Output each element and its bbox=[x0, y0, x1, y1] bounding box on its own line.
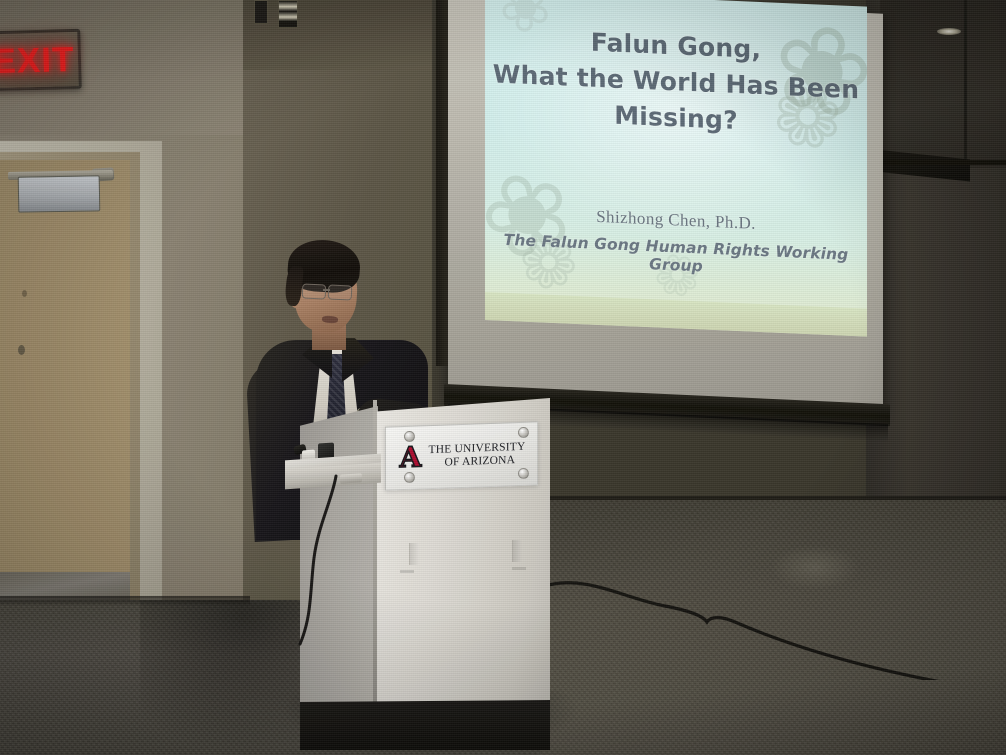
podium-seam bbox=[512, 567, 526, 570]
podium-seam bbox=[512, 540, 522, 562]
plaque-standoff-icon bbox=[404, 472, 415, 483]
door-knob-icon[interactable] bbox=[18, 345, 25, 355]
glasses-bridge bbox=[323, 289, 330, 291]
wall-control-panel[interactable] bbox=[278, 0, 298, 28]
slide-title: Falun Gong, What the World Has Been Miss… bbox=[485, 20, 867, 145]
slide-organization: The Falun Gong Human Rights Working Grou… bbox=[485, 230, 867, 283]
ceiling-light-icon bbox=[937, 28, 961, 35]
glasses-icon bbox=[328, 284, 353, 300]
shelf-connector[interactable] bbox=[340, 473, 362, 484]
plaque-standoff-icon bbox=[518, 427, 529, 438]
wall-corner-line bbox=[964, 0, 967, 172]
ceiling-edge-line bbox=[880, 160, 1006, 165]
projected-slide: ❀ ❀ ❁ ❀ ❁ ❁ Falun Gong, What the World H… bbox=[485, 0, 867, 337]
wall-right-upper bbox=[880, 0, 1006, 168]
wall-switch-plate[interactable] bbox=[254, 0, 268, 24]
floor-light-glow bbox=[770, 545, 860, 590]
podium-seam bbox=[409, 543, 419, 565]
glasses-icon bbox=[302, 283, 327, 299]
arizona-block-a-icon: A bbox=[397, 442, 423, 473]
exit-sign-label: EXIT bbox=[0, 42, 75, 79]
door-blemish bbox=[22, 290, 27, 297]
exit-sign: EXIT bbox=[0, 29, 82, 91]
door[interactable] bbox=[0, 160, 130, 600]
presentation-photo-scene: EXIT ❀ ❀ ❁ ❀ ❁ ❁ Falun Gong, What the Wo… bbox=[0, 0, 1006, 755]
plaque-standoff-icon bbox=[518, 468, 529, 479]
speaker-mouth bbox=[322, 315, 338, 323]
podium-edge bbox=[373, 400, 377, 738]
podium-base bbox=[300, 700, 550, 750]
floor-carpet-right bbox=[540, 500, 1006, 755]
podium-seam bbox=[400, 570, 414, 573]
plaque-standoff-icon bbox=[404, 431, 415, 442]
door-closer-icon bbox=[18, 175, 101, 212]
